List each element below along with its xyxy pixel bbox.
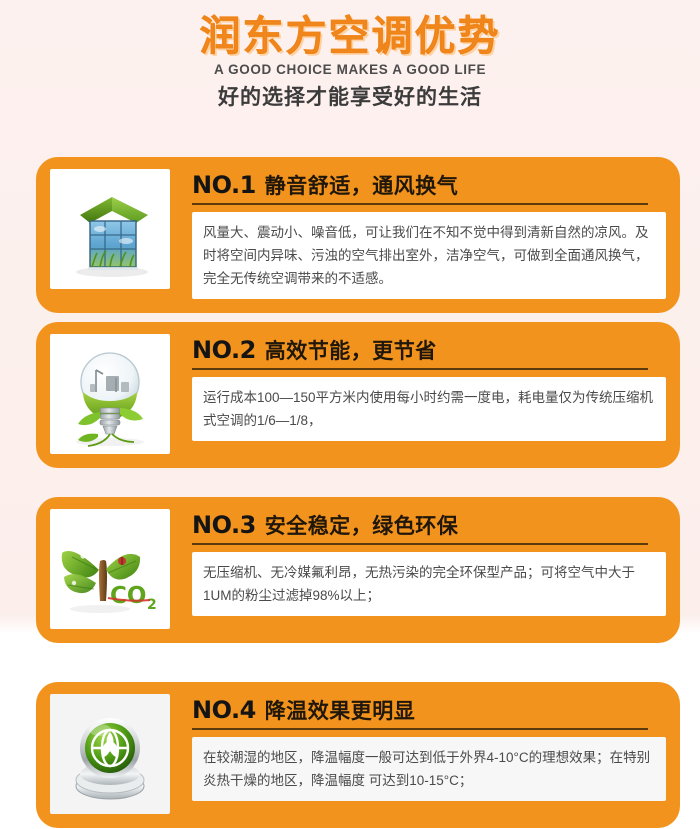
subtitle-chinese: 好的选择才能享受好的生活	[0, 85, 700, 111]
feature-card-1[interactable]: NO.1 静音舒适，通风换气 风量大、震动小、噪音低，可让我们在不知不觉中得到清…	[36, 157, 680, 313]
card-4-number: NO.4	[192, 698, 256, 722]
card-2-title: 高效节能，更节省	[265, 341, 437, 363]
sapling-co2-icon: CO 2	[50, 509, 170, 629]
card-4-description: 在较潮湿的地区，降温幅度一般可达到低于外界4-10°C的理想效果；在特别炎热干燥…	[203, 746, 654, 792]
promo-page: 润东方空调优势 A GOOD CHOICE MAKES A GOOD LIFE …	[0, 0, 700, 829]
green-roof-glass-house-svg	[50, 169, 170, 289]
card-2-description: 运行成本100—150平方米内使用每小时约需一度电，耗电量仅为传统压缩机式空调的…	[203, 386, 654, 432]
card-1-description-box: 风量大、震动小、噪音低，可让我们在不知不觉中得到清新自然的凉风。及时将空间内异味…	[192, 212, 666, 299]
eco-lightbulb-svg	[50, 334, 170, 454]
feature-card-4[interactable]: NO.4 降温效果更明显 在较潮湿的地区，降温幅度一般可达到低于外界4-10°C…	[36, 682, 680, 828]
eco-lightbulb-icon	[50, 334, 170, 454]
svg-text:CO: CO	[110, 583, 146, 609]
card-3-description: 无压缩机、无冷媒氟利昂，无热污染的完全环保型产品；可将空气中大于1UM的粉尘过滤…	[203, 561, 654, 607]
card-4-title: 降温效果更明显	[265, 701, 416, 723]
card-1-heading: NO.1 静音舒适，通风换气	[192, 173, 648, 205]
card-4-heading: NO.4 降温效果更明显	[192, 698, 648, 730]
feature-card-2[interactable]: NO.2 高效节能，更节省 运行成本100—150平方米内使用每小时约需一度电，…	[36, 322, 680, 468]
card-1-number: NO.1	[192, 173, 256, 197]
card-3-title: 安全稳定，绿色环保	[265, 516, 459, 538]
card-3-number: NO.3	[192, 513, 256, 537]
card-2-number: NO.2	[192, 338, 256, 362]
card-1-body: NO.1 静音舒适，通风换气 风量大、震动小、噪音低，可让我们在不知不觉中得到清…	[192, 169, 666, 299]
card-1-description: 风量大、震动小、噪音低，可让我们在不知不觉中得到清新自然的凉风。及时将空间内异味…	[203, 221, 654, 290]
card-4-description-box: 在较潮湿的地区，降温幅度一般可达到低于外界4-10°C的理想效果；在特别炎热干燥…	[192, 737, 666, 801]
green-roof-glass-house-icon	[50, 169, 170, 289]
page-title: 润东方空调优势	[0, 0, 700, 58]
card-3-heading: NO.3 安全稳定，绿色环保	[192, 513, 648, 545]
sapling-co2-svg: CO 2	[50, 509, 170, 629]
card-3-body: NO.3 安全稳定，绿色环保 无压缩机、无冷媒氟利昂，无热污染的完全环保型产品；…	[192, 509, 666, 629]
card-1-title: 静音舒适，通风换气	[265, 176, 459, 198]
card-2-body: NO.2 高效节能，更节省 运行成本100—150平方米内使用每小时约需一度电，…	[192, 334, 666, 454]
page-header: 润东方空调优势 A GOOD CHOICE MAKES A GOOD LIFE …	[0, 0, 700, 111]
card-2-heading: NO.2 高效节能，更节省	[192, 338, 648, 370]
green-globe-leaf-badge-icon	[50, 694, 170, 814]
green-globe-leaf-badge-svg	[50, 694, 170, 814]
card-4-body: NO.4 降温效果更明显 在较潮湿的地区，降温幅度一般可达到低于外界4-10°C…	[192, 694, 666, 814]
subtitle-english: A GOOD CHOICE MAKES A GOOD LIFE	[0, 62, 700, 78]
feature-card-3[interactable]: CO 2 NO.3 安全稳定，绿色环保 无压缩机、无冷媒氟利昂，无热污染的完全环…	[36, 497, 680, 643]
card-3-description-box: 无压缩机、无冷媒氟利昂，无热污染的完全环保型产品；可将空气中大于1UM的粉尘过滤…	[192, 552, 666, 616]
card-2-description-box: 运行成本100—150平方米内使用每小时约需一度电，耗电量仅为传统压缩机式空调的…	[192, 377, 666, 441]
